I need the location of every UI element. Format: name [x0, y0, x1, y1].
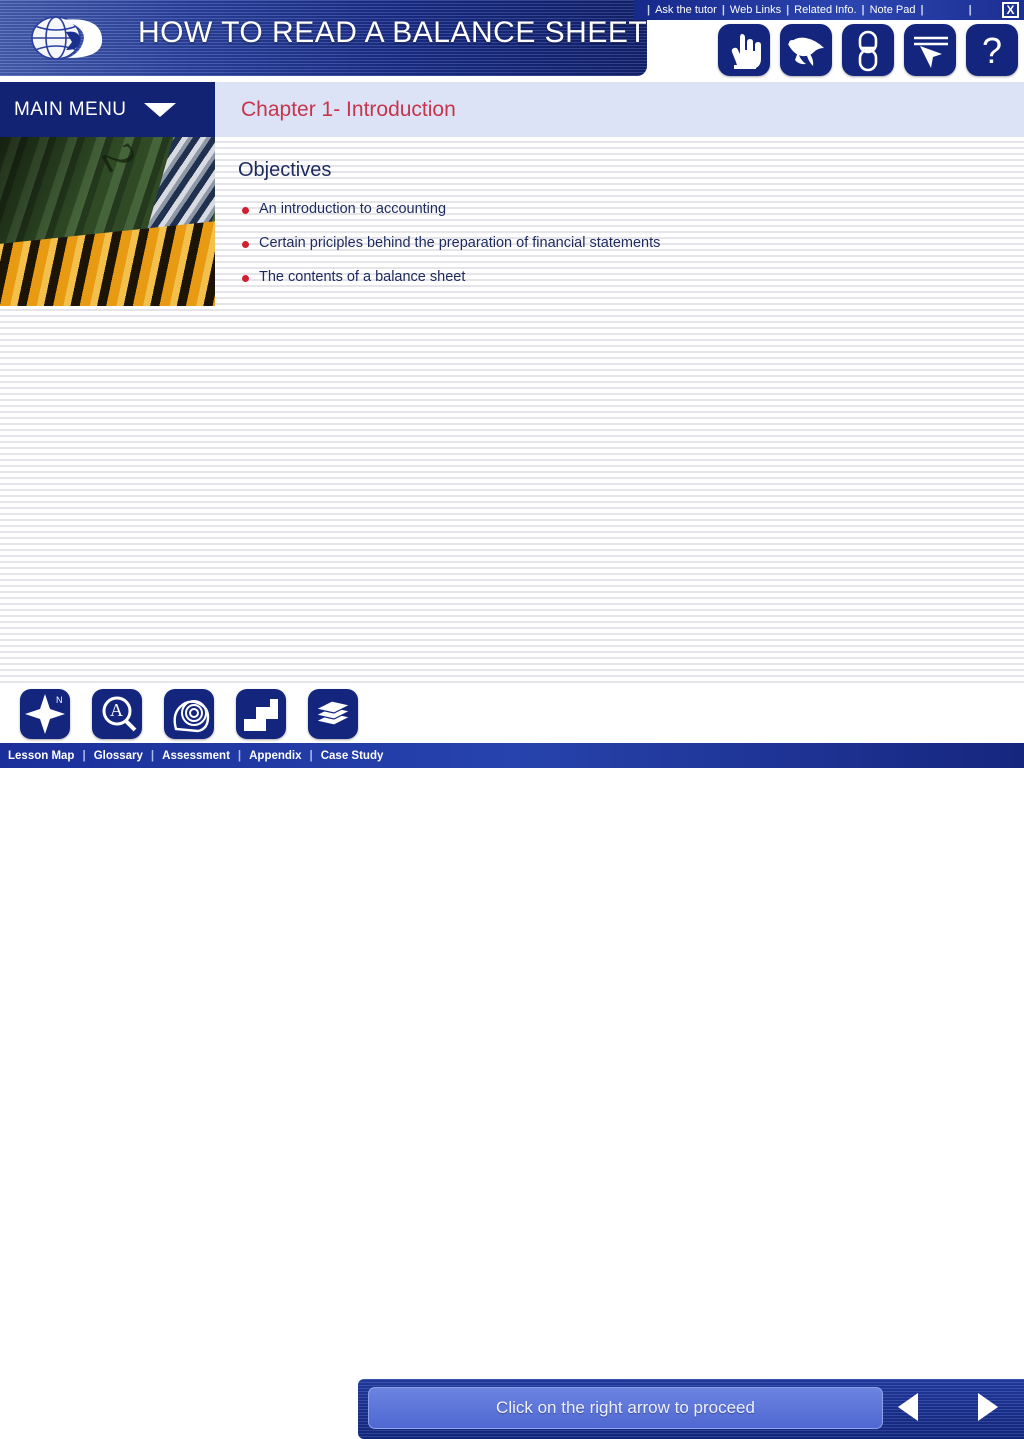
ledger-photo: 3 2 [0, 137, 215, 306]
head-rings-icon[interactable] [164, 689, 214, 739]
globe-swoosh-logo [22, 12, 118, 64]
assessment-link[interactable]: Assessment [162, 750, 230, 762]
svg-text:N: N [56, 695, 63, 705]
objectives-section: Objectives An introduction to accounting… [238, 159, 978, 302]
separator: | [82, 750, 85, 762]
separator: | [238, 750, 241, 762]
footer-nav-icons: N A [20, 689, 358, 739]
list-item: An introduction to accounting [238, 200, 978, 218]
chain-link-icon[interactable] [842, 24, 894, 76]
stair-blocks-icon[interactable] [236, 689, 286, 739]
separator: | [969, 4, 972, 16]
tutor-figure-icon[interactable] [780, 24, 832, 76]
content-area: 3 2 Objectives An introduction to accoun… [0, 137, 1024, 687]
svg-text:?: ? [982, 30, 1002, 71]
close-icon[interactable]: X [1002, 2, 1019, 18]
status-text: Click on the right arrow to proceed [496, 1398, 755, 1418]
magnifier-letter-a-icon[interactable]: A [92, 689, 142, 739]
svg-text:A: A [110, 700, 123, 720]
top-tool-icons: ? [718, 24, 1018, 76]
page-title: HOW TO READ A BALANCE SHEET [138, 16, 647, 50]
separator: | [310, 750, 313, 762]
related-info-link[interactable]: Related Info. [794, 4, 856, 16]
main-menu-button[interactable]: MAIN MENU [0, 82, 215, 137]
cursor-click-icon[interactable] [904, 24, 956, 76]
separator: | [722, 4, 725, 16]
title-banner: HOW TO READ A BALANCE SHEET [0, 0, 647, 76]
status-bar: Click on the right arrow to proceed [368, 1387, 883, 1429]
question-mark-icon[interactable]: ? [966, 24, 1018, 76]
stacked-books-icon[interactable] [308, 689, 358, 739]
separator: | [862, 4, 865, 16]
footer-links: Lesson Map | Glossary | Assessment | App… [8, 750, 383, 762]
note-pad-link[interactable]: Note Pad [870, 4, 916, 16]
utility-link-bar: | Ask the tutor | Web Links | Related In… [634, 0, 1024, 20]
chevron-down-icon [144, 103, 176, 117]
separator: | [786, 4, 789, 16]
separator: | [647, 4, 650, 16]
bullet-icon [242, 275, 249, 282]
list-item: Certain priciples behind the preparation… [238, 234, 978, 252]
compass-rose-icon[interactable]: N [20, 689, 70, 739]
ask-the-tutor-link[interactable]: Ask the tutor [655, 4, 717, 16]
objective-text: The contents of a balance sheet [259, 268, 465, 286]
glossary-link[interactable]: Glossary [94, 750, 143, 762]
bullet-icon [242, 207, 249, 214]
pointing-hand-icon[interactable] [718, 24, 770, 76]
main-menu-label: MAIN MENU [14, 99, 126, 121]
objectives-heading: Objectives [238, 159, 978, 182]
separator: | [151, 750, 154, 762]
footer-link-bar: Lesson Map | Glossary | Assessment | App… [0, 743, 1024, 768]
navigation-panel: Click on the right arrow to proceed [358, 1379, 1024, 1439]
app-footer: N A [0, 687, 1024, 768]
lesson-map-link[interactable]: Lesson Map [8, 750, 74, 762]
bullet-icon [242, 241, 249, 248]
chapter-title: Chapter 1- Introduction [241, 98, 456, 122]
case-study-link[interactable]: Case Study [321, 750, 384, 762]
appendix-link[interactable]: Appendix [249, 750, 301, 762]
chapter-bar: Chapter 1- Introduction [215, 82, 1024, 137]
objective-text: Certain priciples behind the preparation… [259, 234, 660, 252]
objective-text: An introduction to accounting [259, 200, 446, 218]
list-item: The contents of a balance sheet [238, 268, 978, 286]
left-arrow-icon[interactable] [898, 1393, 918, 1421]
right-arrow-icon[interactable] [978, 1393, 998, 1421]
web-links-link[interactable]: Web Links [730, 4, 781, 16]
app-header: HOW TO READ A BALANCE SHEET | Ask the tu… [0, 0, 1024, 82]
separator: | [920, 4, 923, 16]
